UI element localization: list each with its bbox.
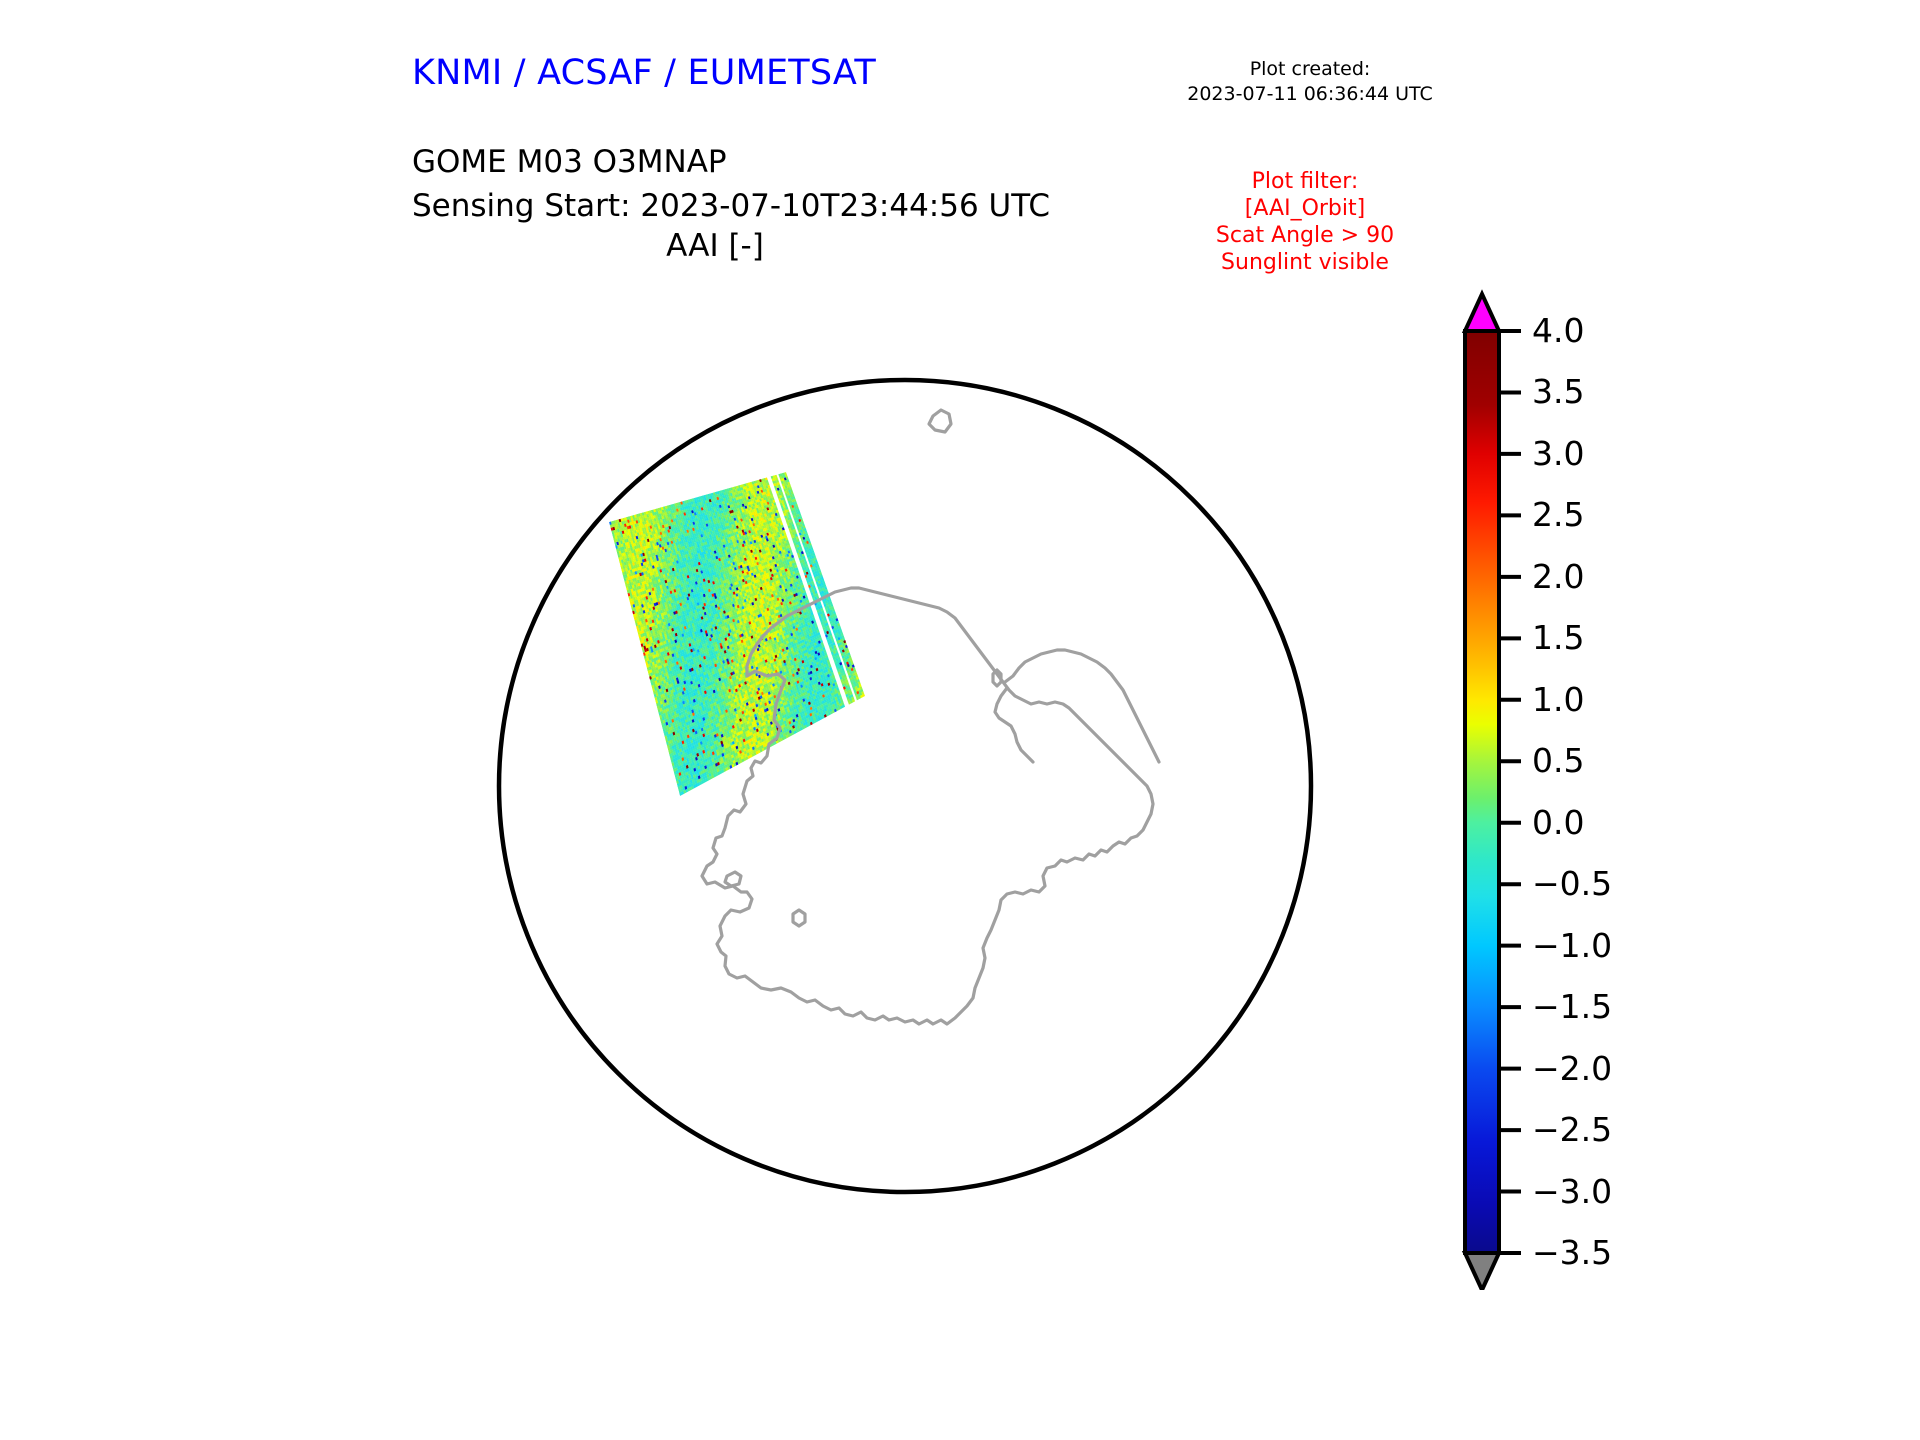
colorbar-tick-label: −3.5: [1532, 1236, 1612, 1269]
colorbar-over-range-arrow: [1465, 294, 1499, 331]
coastline-south-america: [1335, 974, 1413, 1010]
coastline-patagonia-inner: [1347, 1018, 1411, 1032]
colorbar-tick-label: 0.0: [1532, 806, 1584, 839]
coastline-peninsula-west: [995, 688, 1033, 762]
plot-created-label: Plot created:: [1160, 57, 1460, 82]
plot-created-block: Plot created: 2023-07-11 06:36:44 UTC: [1160, 57, 1460, 107]
filter-name: [AAI_Orbit]: [1150, 195, 1460, 222]
filter-sunglint: Sunglint visible: [1150, 249, 1460, 276]
coastline-islet-ross: [793, 910, 805, 926]
plot-created-time: 2023-07-11 06:36:44 UTC: [1160, 82, 1460, 107]
colorbar: 4.03.53.02.52.01.51.00.50.0−0.5−1.0−1.5−…: [1420, 280, 1760, 1290]
map-svg: [395, 276, 1415, 1296]
colorbar-tick-label: 3.0: [1532, 437, 1584, 470]
colorbar-tick-label: 4.0: [1532, 314, 1584, 347]
colorbar-ticks: [1499, 331, 1521, 1253]
colorbar-tick-label: −2.5: [1532, 1113, 1612, 1146]
filter-scat-angle: Scat Angle > 90: [1150, 222, 1460, 249]
plot-canvas: KNMI / ACSAF / EUMETSAT Plot created: 20…: [0, 0, 1920, 1440]
brand-title: KNMI / ACSAF / EUMETSAT: [412, 53, 876, 93]
colorbar-tick-label: 0.5: [1532, 744, 1584, 777]
product-title: GOME M03 O3MNAP: [412, 140, 1050, 184]
colorbar-tick-label: 1.5: [1532, 621, 1584, 654]
polar-map: [395, 276, 1415, 1296]
aai-swath: [609, 472, 865, 796]
globe-limb: [499, 380, 1311, 1192]
colorbar-tick-label: −2.0: [1532, 1052, 1612, 1085]
coastline-island-b: [725, 872, 741, 886]
colorbar-under-range-arrow: [1465, 1253, 1499, 1290]
plot-title-block: GOME M03 O3MNAP Sensing Start: 2023-07-1…: [412, 140, 1050, 228]
filter-label: Plot filter:: [1150, 168, 1460, 195]
colorbar-tick-label: −1.0: [1532, 929, 1612, 962]
colorbar-tick-label: 2.5: [1532, 498, 1584, 531]
colorbar-tick-label: −3.0: [1532, 1175, 1612, 1208]
colorbar-tick-label: 1.0: [1532, 683, 1584, 716]
colorbar-tick-label: −0.5: [1532, 867, 1612, 900]
sensing-start: Sensing Start: 2023-07-10T23:44:56 UTC: [412, 184, 1050, 228]
colorbar-gradient-bar: [1465, 331, 1499, 1253]
colorbar-tick-label: 2.0: [1532, 560, 1584, 593]
coastline-south-america-south: [1323, 1018, 1411, 1090]
coastline-island-a: [929, 410, 951, 432]
colorbar-tick-label: 3.5: [1532, 375, 1584, 408]
coastline-falkland-islands: [1399, 1088, 1415, 1092]
colorbar-tick-label: −1.5: [1532, 990, 1612, 1023]
plot-filter-block: Plot filter: [AAI_Orbit] Scat Angle > 90…: [1150, 168, 1460, 276]
coastline-antarctic-peninsula: [1005, 650, 1159, 762]
